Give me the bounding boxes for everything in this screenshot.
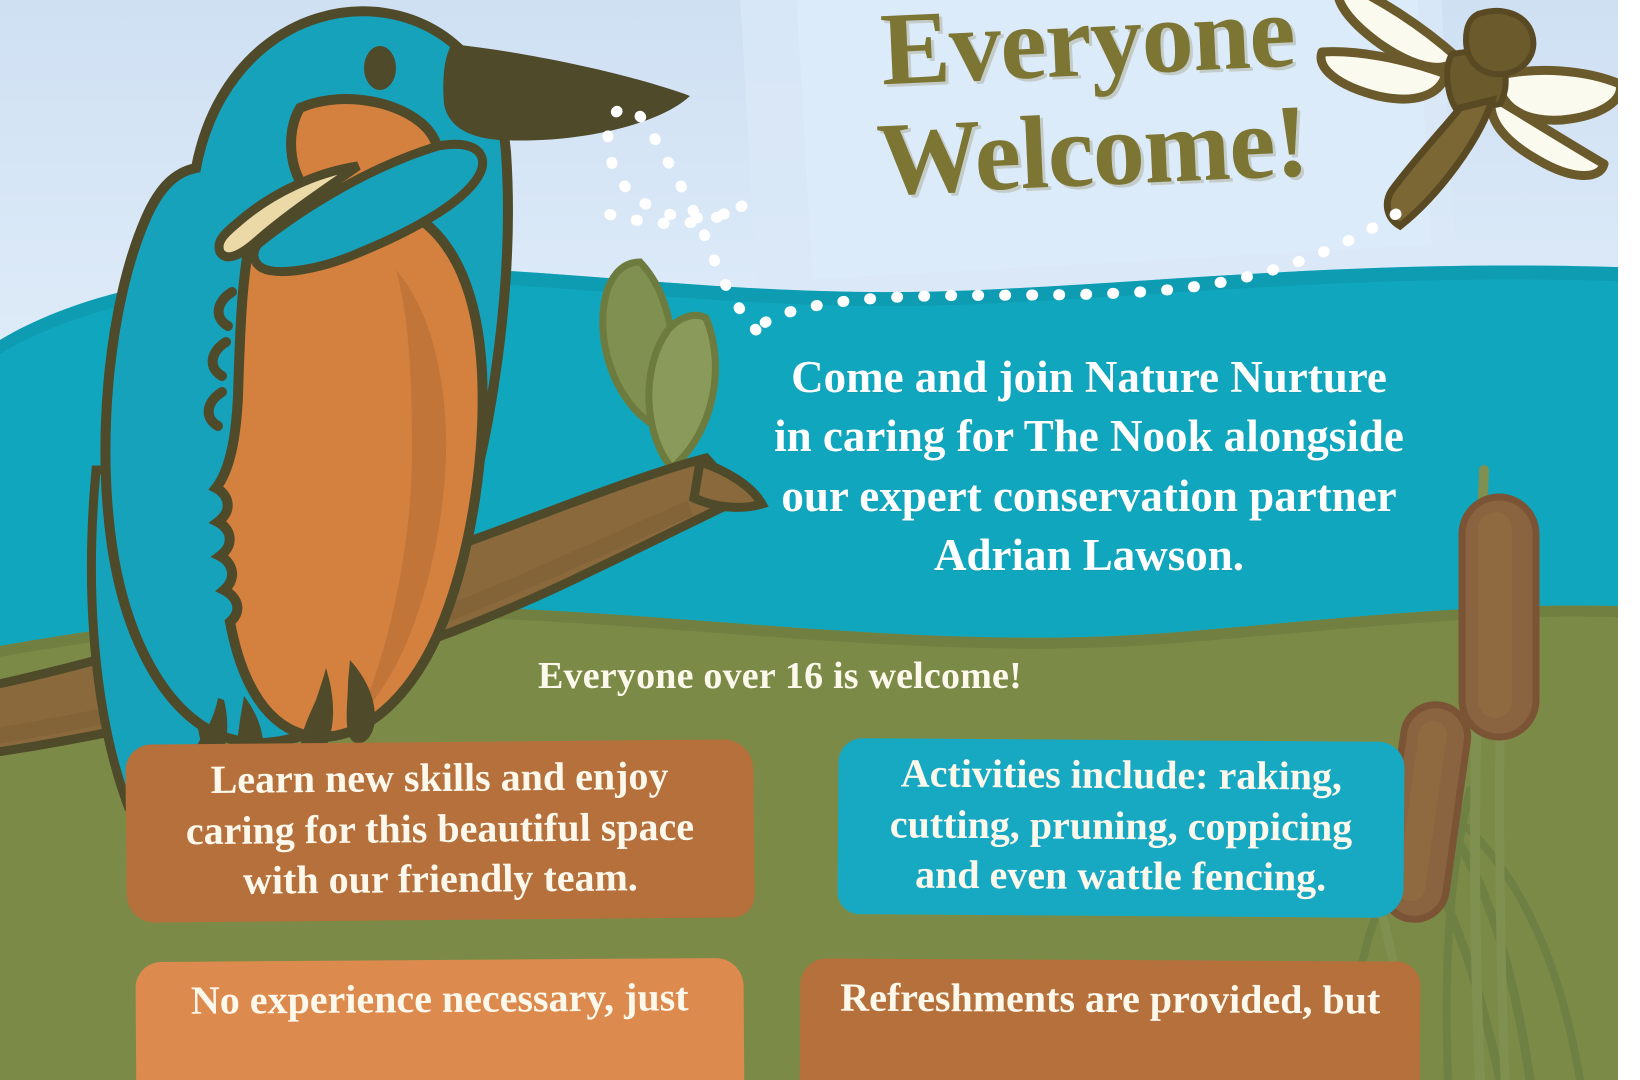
poster-canvas: Everyone Welcome! Come and join Nature N… [0, 0, 1640, 1080]
dragonfly-head [1466, 11, 1533, 74]
callout-refreshments-line-1: Refreshments are provided, but [818, 972, 1402, 1025]
callout-skills-line-1: Learn new skills and enjoy [143, 751, 735, 807]
callout-skills-line-2: caring for this beautiful space [144, 801, 736, 857]
callout-activities-line-1: Activities include: raking, [856, 749, 1386, 803]
bird-beak [443, 44, 690, 141]
right-margin-strip [1618, 0, 1640, 1080]
intro-line-3: our expert conservation partner [718, 467, 1460, 526]
bird-eye [364, 46, 396, 90]
intro-line-4: Adrian Lawson. [718, 526, 1460, 585]
intro-line-2: in caring for The Nook alongside [718, 407, 1460, 466]
callout-no-experience: No experience necessary, just [135, 958, 744, 1080]
intro-line-1: Come and join Nature Nurture [718, 348, 1460, 407]
callout-learn-skills: Learn new skills and enjoy caring for th… [125, 739, 755, 922]
age-requirement-line: Everyone over 16 is welcome! [330, 654, 1230, 698]
callout-activities-line-2: cutting, pruning, coppicing [856, 799, 1386, 853]
dragonfly-abdomen [1387, 100, 1492, 226]
callout-skills-line-3: with our friendly team. [144, 852, 736, 908]
dragonfly-illustration [1321, 0, 1620, 226]
callout-noexp-line-1: No experience necessary, just [154, 972, 726, 1026]
intro-paragraph: Come and join Nature Nurture in caring f… [718, 348, 1460, 586]
callout-activities: Activities include: raking, cutting, pru… [837, 738, 1404, 918]
callout-refreshments: Refreshments are provided, but [800, 958, 1421, 1080]
callout-activities-line-3: and even wattle fencing. [855, 849, 1385, 903]
